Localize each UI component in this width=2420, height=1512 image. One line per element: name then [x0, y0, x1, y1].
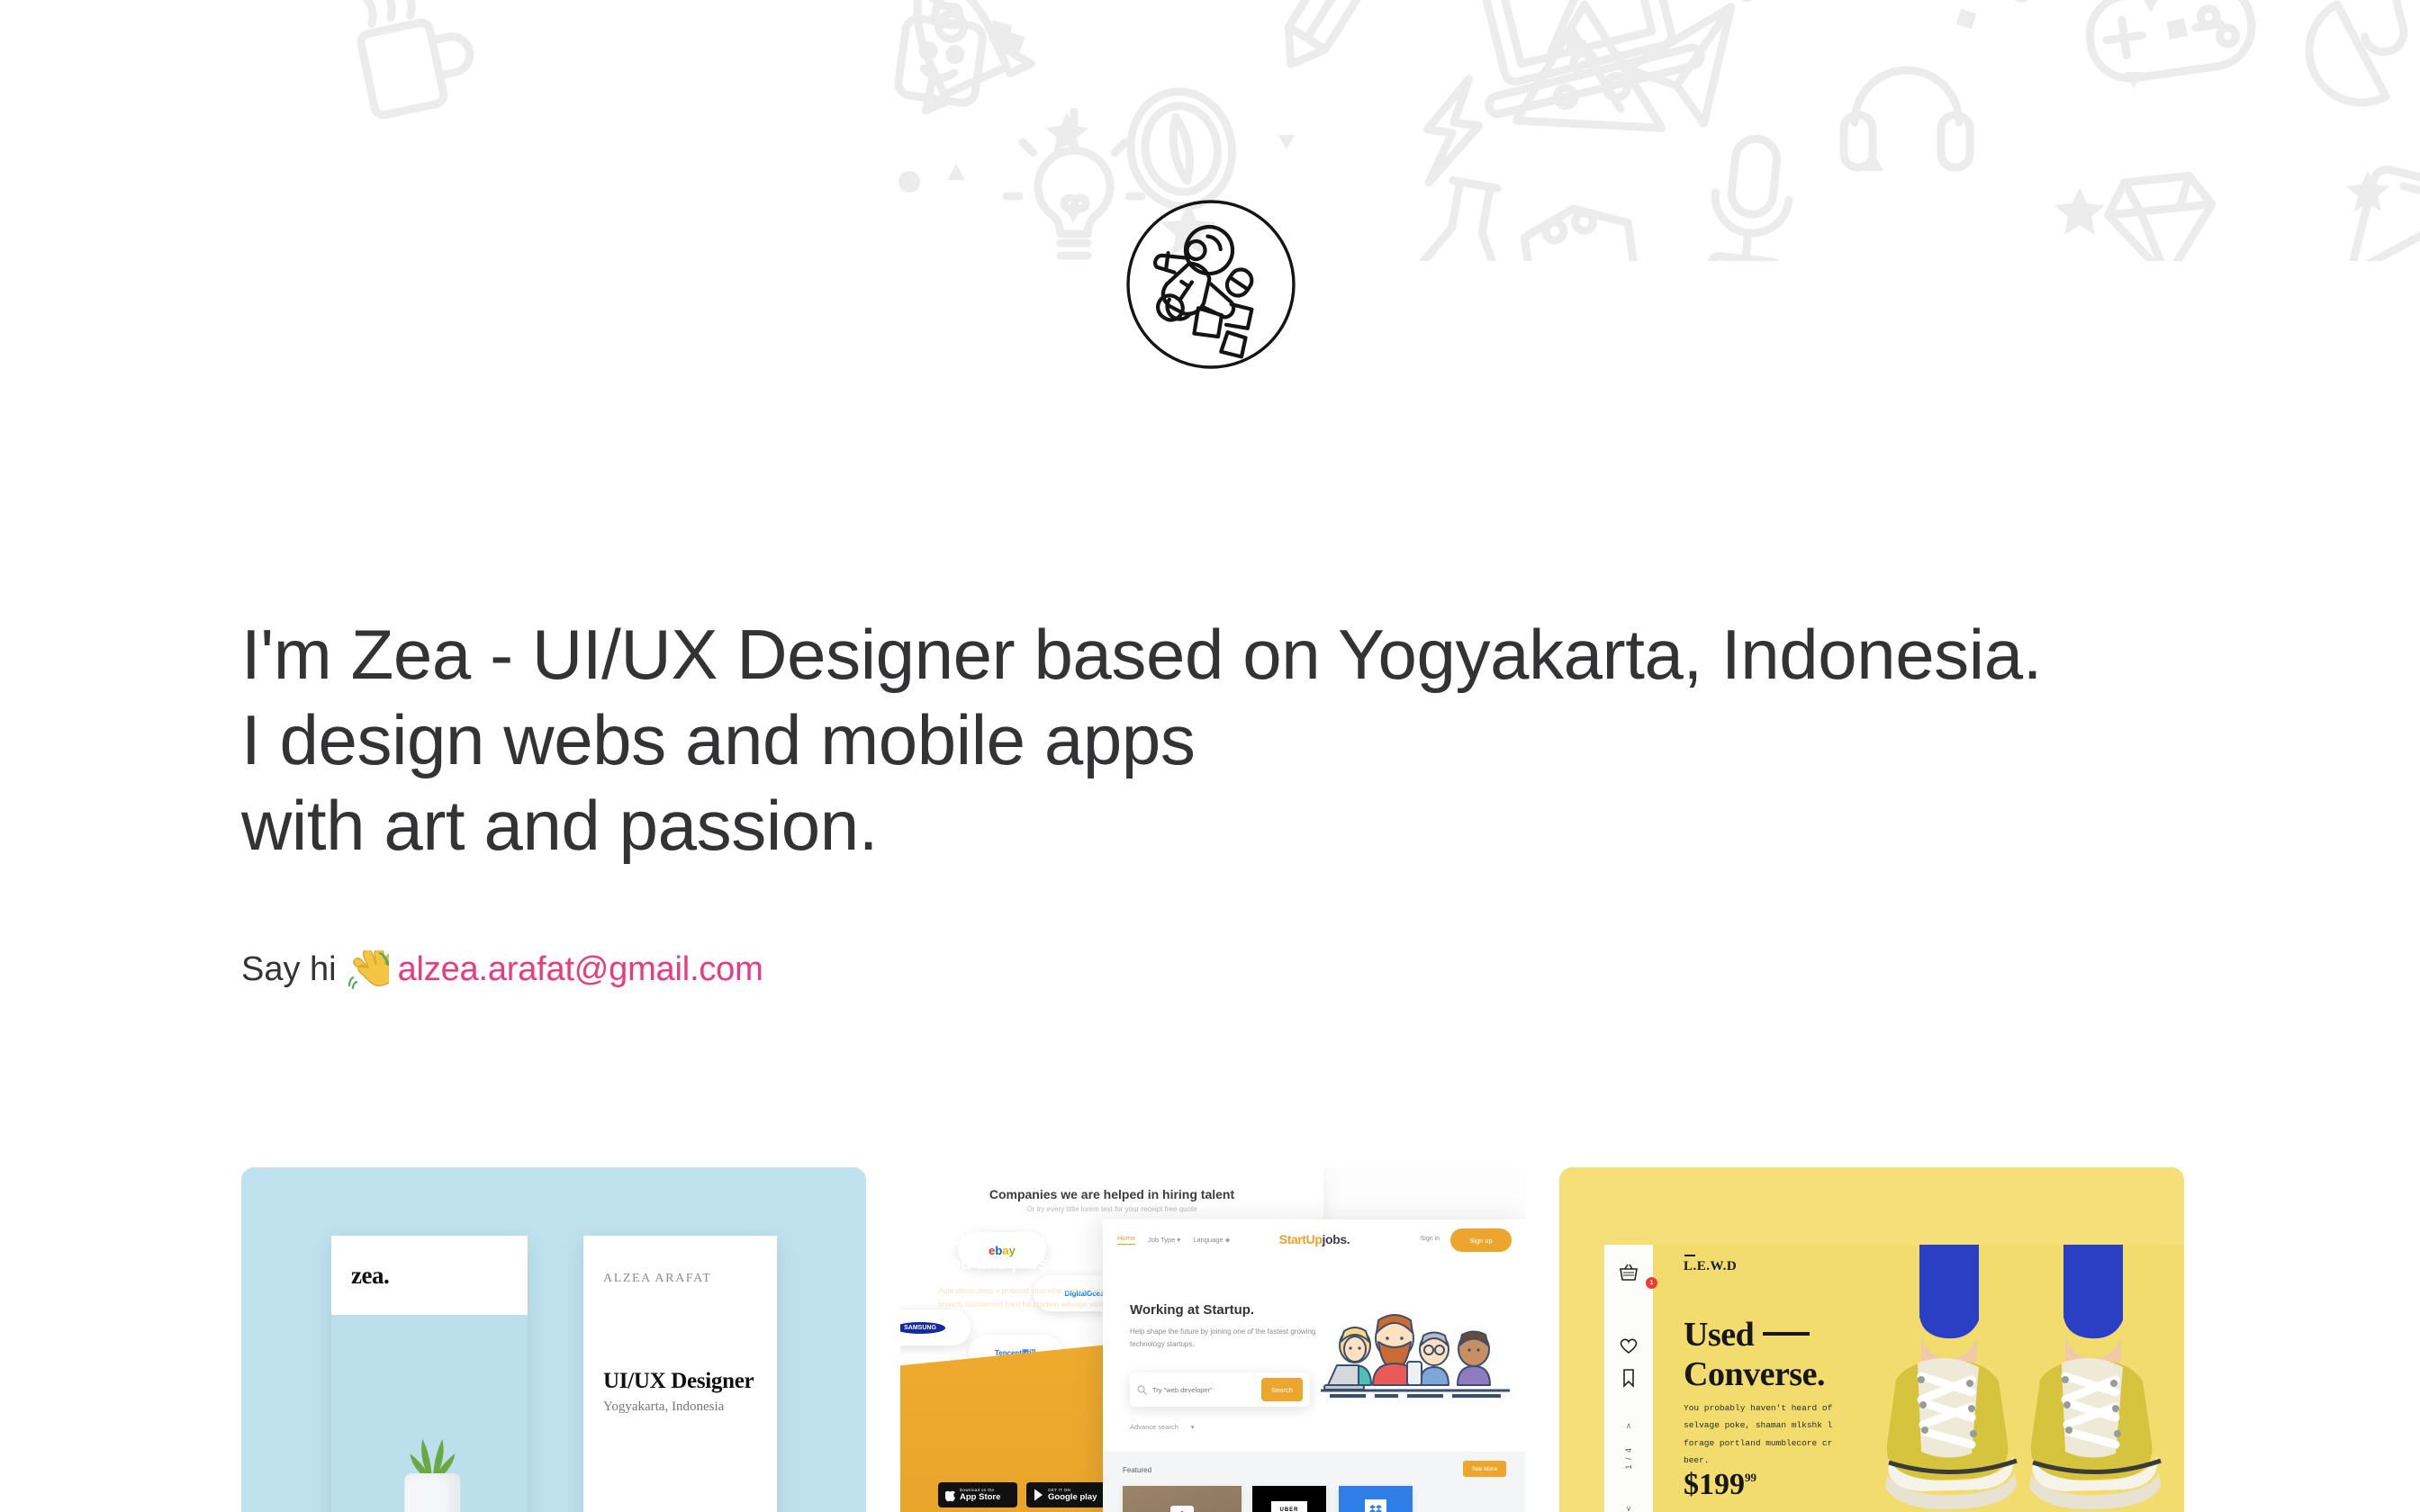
email-link[interactable]: alzea.arafat@gmail.com [398, 948, 763, 992]
triangle-icon [2143, 0, 2159, 13]
bookmark-icon[interactable] [1619, 1368, 1639, 1388]
astronaut-logo[interactable] [1124, 198, 1297, 371]
page-title: I'm Zea - UI/UX Designer based on Yogyak… [241, 612, 2060, 868]
slack-icon [1170, 1506, 1194, 1512]
chevron-up-icon[interactable]: ∧ [1626, 1421, 1632, 1431]
headphones-icon [1844, 70, 1970, 167]
triangle-icon [1278, 135, 1295, 149]
chevron-down-icon: ▾ [1191, 1423, 1195, 1431]
heading-dash [1763, 1332, 1810, 1336]
search-input[interactable] [1147, 1386, 1261, 1394]
product-price: $19999 [1684, 1468, 1756, 1502]
job-thumbnail [1339, 1486, 1413, 1512]
job-card[interactable]: UI/UX Designer Slack Full-time | Portlan… [1123, 1486, 1242, 1512]
google-play-icon [1034, 1489, 1045, 1502]
see-more-button[interactable]: See More [1463, 1461, 1506, 1477]
shop-page-mockup: 1 ∧ 1 / 4 ∨ L.E.W.D Used Converse. [1604, 1245, 2184, 1512]
job-thumbnail: UI/UX Designer Slack Full-time | Portlan… [1123, 1486, 1242, 1512]
square-icon [1956, 9, 1977, 30]
hero-body: Help shape the future by joining one of … [1130, 1326, 1319, 1351]
app-store-large: App Store [960, 1492, 1017, 1502]
uber-icon: UBER [1271, 1501, 1306, 1512]
project-card-ecommerce[interactable]: 1 ∧ 1 / 4 ∨ L.E.W.D Used Converse. [1559, 1167, 2184, 1512]
company-logo-samsung: SAMSUNG [900, 1309, 971, 1345]
star-icon [2346, 171, 2389, 211]
paper-plane-icon [1621, 7, 1747, 133]
slide-pagination: 1 / 4 [1624, 1446, 1633, 1469]
microphone-icon [1707, 135, 1794, 261]
nav-job-type[interactable]: Job Type ▾ [1148, 1236, 1180, 1244]
basket-icon [1619, 1263, 1639, 1282]
heart-icon[interactable] [1619, 1336, 1639, 1355]
job-thumbnail: UBER [1252, 1486, 1326, 1512]
shop-brand-logo: L.E.W.D [1684, 1259, 1737, 1274]
chevron-down-icon[interactable]: ∨ [1626, 1504, 1632, 1512]
lightbulb-icon [1007, 112, 1142, 261]
search-icon [1137, 1385, 1147, 1395]
business-card-back: ALZEA ARAFAT UI/UX Designer Yogyakarta, … [583, 1236, 777, 1512]
laptop-icon [1458, 0, 1703, 116]
project-card-startupjobs[interactable]: Companies we are helped in hiring talent… [900, 1167, 1525, 1512]
hero-section: I'm Zea - UI/UX Designer based on Yogyak… [241, 612, 2132, 993]
hero-heading: Working at Startup. [1130, 1302, 1254, 1318]
flask-icon [1396, 175, 1531, 261]
umbrella-icon [2309, 0, 2420, 62]
product-heading: Used Converse. [1684, 1315, 1825, 1394]
square-icon [1565, 36, 1586, 58]
square-icon [989, 21, 1013, 45]
star-icon [1045, 112, 1088, 153]
job-card[interactable]: UBER Front-end Developer Uber Indonesia … [1252, 1486, 1326, 1512]
dropbox-icon [1365, 1499, 1386, 1512]
portfolio-page: I'm Zea - UI/UX Designer based on Yogyak… [0, 0, 2420, 1512]
business-card-name: ALZEA ARAFAT [603, 1272, 711, 1286]
triangle-icon [1064, 207, 1082, 223]
pizza-icon [1516, 0, 1690, 164]
waving-hand-icon [348, 950, 389, 990]
shop-sidebar: 1 ∧ 1 / 4 ∨ [1604, 1245, 1653, 1512]
featured-label: Featured [1123, 1466, 1151, 1474]
job-card[interactable]: Python Developer Dropbox Inc Remote | Ne… [1339, 1486, 1413, 1512]
sign-up-button[interactable]: Sign up [1450, 1228, 1512, 1252]
dot-icon [2011, 0, 2031, 3]
landing-title: Companies we are helped in hiring talent [900, 1187, 1323, 1201]
plant-decoration [394, 1434, 470, 1512]
say-hi-label: Say hi [241, 948, 337, 992]
search-button[interactable]: Search [1261, 1378, 1303, 1401]
startupjobs-page-mockup: Home Job Type ▾ Language ◈ StartUpjobs. … [1103, 1219, 1525, 1512]
lego-brick-icon [1522, 202, 1639, 261]
business-card-photo [331, 1315, 528, 1512]
basket-button[interactable]: 1 [1619, 1263, 1639, 1287]
pacman-icon [2291, 4, 2387, 121]
google-play-large: Google play [1048, 1492, 1106, 1502]
lightning-bolt-icon [1420, 75, 1485, 189]
brand-logo-text: zea. [351, 1262, 389, 1290]
compass-icon [1122, 84, 1242, 215]
nav-language[interactable]: Language ◈ [1193, 1236, 1230, 1244]
converse-shoes-photo [1833, 1245, 2184, 1512]
triangle-icon [2125, 72, 2143, 88]
smartphone-icon [2336, 166, 2420, 261]
square-icon [1004, 31, 1025, 52]
advance-search-label: Advance search [1130, 1423, 1178, 1431]
apple-icon [945, 1489, 957, 1502]
plant-pot [404, 1473, 460, 1512]
app-store-button[interactable]: Download on the App Store [938, 1482, 1017, 1507]
cart-badge: 1 [1646, 1277, 1657, 1289]
lego-head-icon [897, 1, 987, 104]
project-cards: zea. [241, 1167, 2181, 1512]
business-card-location: Yogyakarta, Indonesia [603, 1399, 724, 1415]
business-card-role: UI/UX Designer [603, 1369, 754, 1394]
job-search-box[interactable]: Search [1130, 1372, 1310, 1407]
star-icon [2054, 187, 2105, 235]
landing-subtitle: Or try every little lorem text for your … [900, 1205, 1323, 1213]
project-card-branding[interactable]: zea. [241, 1167, 866, 1512]
square-icon [2166, 18, 2188, 40]
rocket-icon [871, 0, 1031, 111]
triangle-icon [947, 164, 965, 180]
dot-icon [1738, 0, 1756, 2]
coffee-mug-icon [352, 0, 479, 117]
diamond-icon [2105, 174, 2219, 261]
nav-home[interactable]: Home [1117, 1234, 1135, 1245]
sign-in-link[interactable]: Sign in [1421, 1236, 1440, 1242]
triangle-icon [1865, 155, 1883, 171]
dot-icon [898, 171, 920, 193]
site-brand: StartUpjobs. [1279, 1232, 1350, 1246]
pencil-icon [1272, 0, 1382, 76]
team-illustration [1321, 1306, 1510, 1414]
business-card-logo-area: zea. [331, 1236, 528, 1315]
advance-search-toggle[interactable]: Advance search ▾ [1130, 1423, 1195, 1431]
gamepad-icon [2079, 0, 2257, 84]
business-card-front: zea. [331, 1236, 528, 1512]
contact-line: Say hi alzea.arafat@gmail.com [241, 948, 2132, 992]
google-play-button[interactable]: GET IT ON Google play [1026, 1482, 1106, 1507]
